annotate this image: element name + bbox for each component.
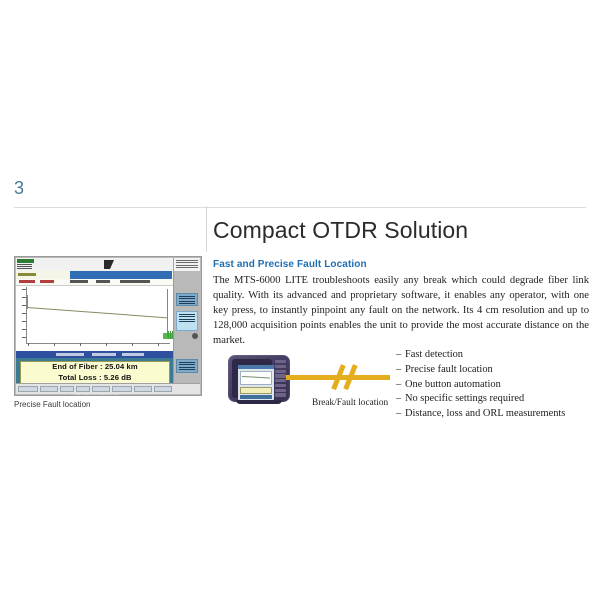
otdr-toolbar-button[interactable] [76,386,90,392]
otdr-results-data-row[interactable] [16,279,174,286]
dash-marker: – [396,363,405,378]
x-tick [132,343,133,346]
otdr-param-text [56,353,84,356]
trace-fiber-slope [27,307,168,318]
side-button-label [179,367,195,370]
otdr-cell-text [120,280,150,283]
side-button-label [179,314,195,317]
otdr-toolbar-button[interactable] [18,386,38,392]
trace-end-of-fiber-drop [167,289,168,337]
end-of-fiber-value: End of Fiber : 25.04 km [52,362,137,372]
side-button-label [179,296,195,299]
otdr-status-indicator [17,259,34,263]
main-content-column: Compact OTDR Solution Fast and Precise F… [213,218,589,348]
otdr-device-icon [228,355,290,402]
dash-marker: – [396,378,405,393]
otdr-side-toolbar [173,271,200,384]
otdr-toolbar-button[interactable] [134,386,152,392]
otdr-results-header-row[interactable] [16,271,174,279]
side-button-label [179,301,195,304]
device-screen-result-box [240,387,272,394]
list-item: –One button automation [396,378,596,393]
device-base [236,400,282,404]
device-bezel [232,359,272,398]
otdr-toolbar-button[interactable] [60,386,74,392]
device-screen [238,365,274,400]
vertical-divider [206,206,207,252]
otdr-param-text [92,353,116,356]
otdr-x-axis [26,343,170,349]
device-key [275,389,286,392]
body-paragraph: The MTS-6000 LITE troubleshoots easily a… [213,273,589,348]
device-key [275,365,286,368]
otdr-titlebar [16,258,200,272]
otdr-toolbar-button[interactable] [112,386,132,392]
otdr-parameters-bar [16,351,174,358]
otdr-bottom-toolbar [16,383,200,394]
otdr-screenshot: End of Fiber : 25.04 km Total Loss : 5.2… [14,256,202,396]
list-item-label: Distance, loss and ORL measurements [405,408,565,419]
x-tick [106,343,107,346]
list-item: –Precise fault location [396,363,596,378]
dash-marker: – [396,348,405,363]
side-button-label [179,362,195,365]
otdr-filename-text [17,264,32,269]
otdr-rotary-knob-icon[interactable] [192,333,198,339]
otdr-result-box: End of Fiber : 25.04 km Total Loss : 5.2… [20,361,170,384]
x-tick [28,343,29,346]
list-item: –Fast detection [396,348,596,363]
list-item: –Distance, loss and ORL measurements [396,407,596,422]
fault-location-illustration: Break/Fault location [228,355,393,413]
otdr-side-button[interactable] [176,359,198,373]
device-key [275,370,286,373]
device-screen-trace [242,376,270,378]
otdr-side-button[interactable] [176,293,198,306]
feature-list: –Fast detection –Precise fault location … [396,348,596,422]
list-item-label: Precise fault location [405,364,493,375]
otdr-battery-panel [173,258,200,271]
break-location-label: Break/Fault location [312,398,388,408]
x-tick [80,343,81,346]
list-item-label: Fast detection [405,349,463,360]
otdr-y-axis [17,287,26,343]
device-key [275,379,286,382]
otdr-side-button-highlighted[interactable] [176,311,198,331]
dash-marker: – [396,392,405,407]
device-screen-plot [240,371,272,385]
otdr-cell-text [70,280,88,283]
otdr-toolbar-button[interactable] [92,386,110,392]
horizontal-divider [14,207,586,208]
x-tick [54,343,55,346]
device-screen-statusbar [240,395,272,399]
device-key [275,374,286,377]
device-screen-titlebar [238,365,274,369]
page-title: Compact OTDR Solution [213,218,589,243]
side-button-label [179,319,195,322]
otdr-main-area: End of Fiber : 25.04 km Total Loss : 5.2… [16,271,174,384]
otdr-toolbar-button[interactable] [154,386,172,392]
otdr-result-panel: End of Fiber : 25.04 km Total Loss : 5.2… [16,358,174,384]
total-loss-value: Total Loss : 5.26 dB [58,373,131,383]
otdr-toolbar-button[interactable] [40,386,58,392]
otdr-cell-text [19,280,35,283]
otdr-battery-text [176,260,198,263]
page-number: 3 [14,178,24,199]
list-item-label: One button automation [405,379,501,390]
device-keypad [275,360,286,398]
list-item: –No specific settings required [396,392,596,407]
otdr-param-text [122,353,144,356]
device-key [275,360,286,363]
otdr-screenshot-figure: End of Fiber : 25.04 km Total Loss : 5.2… [14,256,202,396]
otdr-cell-text [40,280,54,283]
figure-caption: Precise Fault location [14,400,90,409]
otdr-selected-row[interactable] [70,271,172,279]
otdr-trace-plot[interactable] [26,287,170,344]
otdr-time-text [176,265,198,268]
x-tick [158,343,159,346]
device-key [275,393,286,396]
brand-logo-icon [104,260,114,269]
dash-marker: – [396,407,405,422]
list-item-label: No specific settings required [405,393,524,404]
otdr-cell-text [96,280,110,283]
otdr-row-tag [18,273,36,276]
device-key [275,384,286,387]
section-subtitle: Fast and Precise Fault Location [213,259,589,270]
